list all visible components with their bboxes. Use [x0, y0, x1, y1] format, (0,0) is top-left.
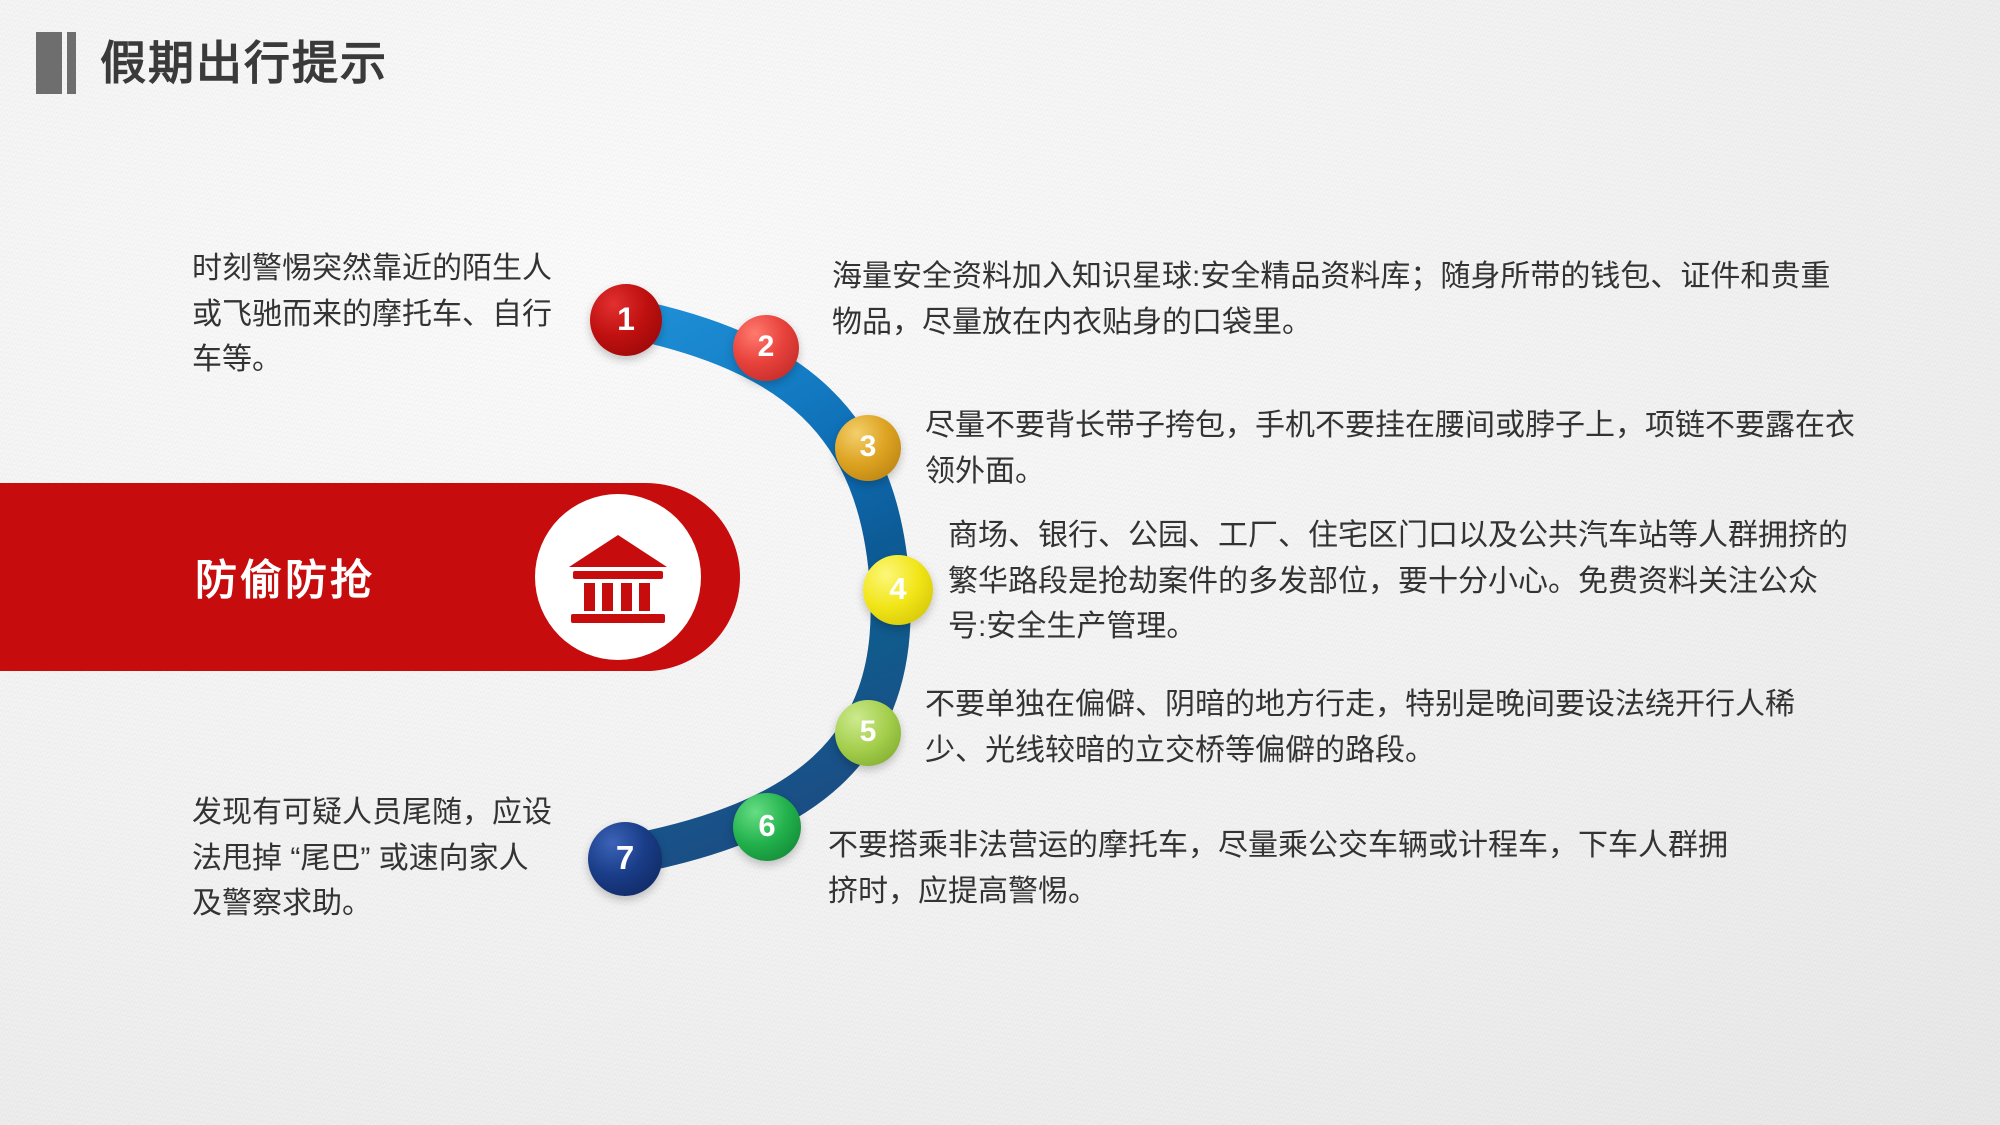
step-text-1: 时刻警惕突然靠近的陌生人或飞驰而来的摩托车、自行车等。: [192, 246, 564, 383]
step-badge-2[interactable]: 2: [733, 315, 799, 381]
step-number-2: 2: [758, 330, 775, 364]
step-text-4: 商场、银行、公园、工厂、住宅区门口以及公共汽车站等人群拥挤的繁华路段是抢劫案件的…: [948, 513, 1853, 650]
step-number-5: 5: [860, 715, 877, 749]
category-banner: 防偷防抢: [0, 483, 740, 671]
step-badge-6[interactable]: 6: [733, 793, 801, 861]
step-badge-4[interactable]: 4: [863, 555, 933, 625]
title-accent-bar-wide: [36, 32, 62, 94]
page-title: 假期出行提示: [100, 40, 388, 86]
step-number-1: 1: [617, 301, 635, 338]
step-badge-1[interactable]: 1: [590, 284, 662, 356]
page-header: 假期出行提示: [36, 32, 388, 94]
step-text-3: 尽量不要背长带子挎包，手机不要挂在腰间或脖子上，项链不要露在衣领外面。: [925, 403, 1855, 494]
step-number-6: 6: [758, 808, 775, 844]
title-accent-bar-thin: [67, 32, 76, 94]
step-number-7: 7: [616, 839, 634, 877]
step-number-4: 4: [889, 571, 906, 607]
step-badge-5[interactable]: 5: [835, 700, 901, 766]
step-badge-3[interactable]: 3: [835, 415, 901, 481]
step-text-6: 不要搭乘非法营运的摩托车，尽量乘公交车辆或计程车，下车人群拥挤时，应提高警惕。: [828, 823, 1728, 914]
category-icon-container: [535, 494, 701, 660]
step-text-2: 海量安全资料加入知识星球:安全精品资料库；随身所带的钱包、证件和贵重物品，尽量放…: [832, 254, 1832, 345]
step-badge-7[interactable]: 7: [588, 822, 662, 896]
category-label: 防偷防抢: [195, 547, 375, 608]
step-text-5: 不要单独在偏僻、阴暗的地方行走，特别是晚间要设法绕开行人稀少、光线较暗的立交桥等…: [925, 682, 1850, 773]
step-number-3: 3: [860, 430, 877, 464]
step-text-7: 发现有可疑人员尾随，应设法甩掉 “尾巴” 或速向家人及警察求助。: [192, 790, 552, 927]
bank-icon: [566, 531, 670, 623]
